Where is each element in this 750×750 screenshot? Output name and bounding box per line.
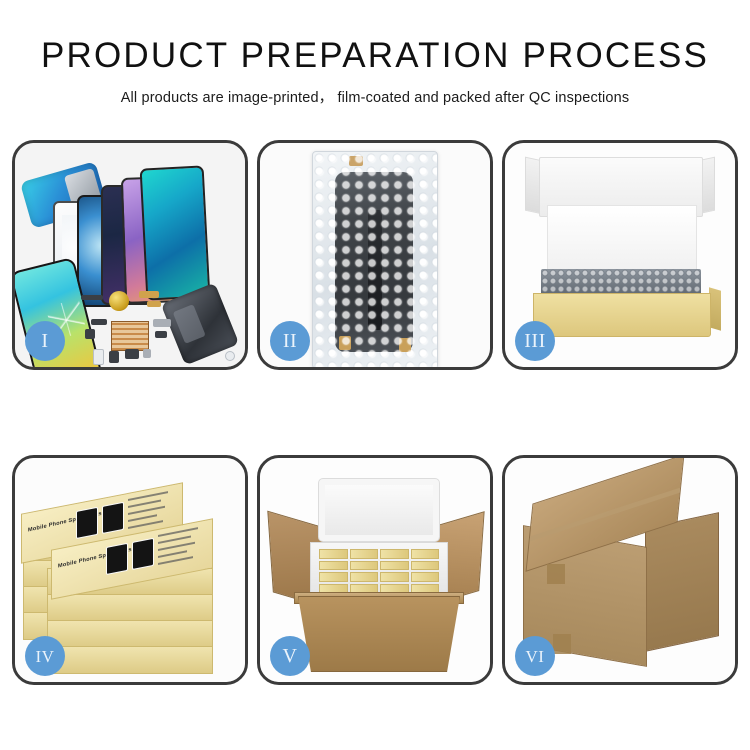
process-step-card-1[interactable]: I — [12, 140, 248, 370]
chip-grid-icon — [111, 321, 149, 351]
step-3-image: III — [505, 143, 735, 367]
step-4-image: Mobile Phone Spare Parts Mobile Phone Sp… — [15, 458, 245, 682]
checklist-lines — [158, 526, 204, 565]
process-step-card-5[interactable]: V — [257, 455, 493, 685]
small-part-icon — [91, 319, 107, 325]
step-5-image: V — [260, 458, 490, 682]
process-step-card-4[interactable]: Mobile Phone Spare Parts Mobile Phone Sp… — [12, 455, 248, 685]
stacked-box — [47, 594, 213, 622]
foam-cooler-lid-icon — [318, 478, 440, 542]
small-part-icon — [147, 301, 161, 307]
page-title: PRODUCT PREPARATION PROCESS — [0, 38, 750, 75]
step-badge-6: VI — [515, 636, 555, 676]
carton-front-panel — [298, 596, 460, 672]
screen-graphic-icon — [102, 502, 124, 534]
small-part-icon — [143, 349, 151, 358]
step-badge-2: II — [270, 321, 310, 361]
small-part-icon — [125, 349, 139, 359]
checklist-lines — [128, 490, 174, 529]
screen-graphic-icon — [106, 543, 128, 575]
step-badge-1: I — [25, 321, 65, 361]
carton-tape-tab — [547, 564, 565, 584]
small-part-icon — [81, 295, 103, 300]
step-1-image: I — [15, 143, 245, 367]
connector-icon — [339, 336, 351, 350]
process-step-card-3[interactable]: III — [502, 140, 738, 370]
stacked-box — [47, 620, 213, 648]
step-badge-3: III — [515, 321, 555, 361]
connector-icon — [399, 338, 411, 352]
process-step-grid: I II III — [12, 140, 738, 685]
process-step-card-2[interactable]: II — [257, 140, 493, 370]
flex-cable-icon — [368, 210, 382, 330]
stacked-box — [47, 646, 213, 674]
page-header: PRODUCT PREPARATION PROCESS All products… — [0, 0, 750, 107]
step-2-image: II — [260, 143, 490, 367]
small-part-icon — [139, 291, 159, 298]
bubble-wrap-bag-icon — [312, 151, 438, 367]
small-part-icon — [93, 349, 104, 365]
yellow-box-column — [380, 549, 409, 593]
carton-side-face — [645, 512, 719, 652]
small-part-icon — [155, 331, 167, 338]
yellow-box-front-icon — [533, 293, 711, 337]
step-badge-4: IV — [25, 636, 65, 676]
white-foam-sheet-icon — [547, 205, 697, 271]
speaker-coil-icon — [109, 291, 129, 311]
screen-graphic-icon — [132, 538, 154, 570]
small-part-icon — [153, 319, 171, 327]
step-badge-5: V — [270, 636, 310, 676]
yellow-box-column — [350, 549, 379, 593]
tape-strip-icon — [349, 156, 363, 166]
small-part-icon — [109, 351, 119, 363]
yellow-box-column — [411, 549, 440, 593]
page-subtitle: All products are image-printed， film-coa… — [0, 86, 750, 107]
process-step-card-6[interactable]: VI — [502, 455, 738, 685]
carton-tape-tab — [553, 634, 571, 654]
yellow-box-column — [319, 549, 348, 593]
teal-phone-icon — [140, 165, 211, 300]
screen-graphic-icon — [76, 507, 98, 539]
screw-icon — [225, 351, 235, 361]
small-part-icon — [85, 329, 95, 339]
step-6-image: VI — [505, 458, 735, 682]
yellow-boxes-inside — [319, 549, 439, 593]
